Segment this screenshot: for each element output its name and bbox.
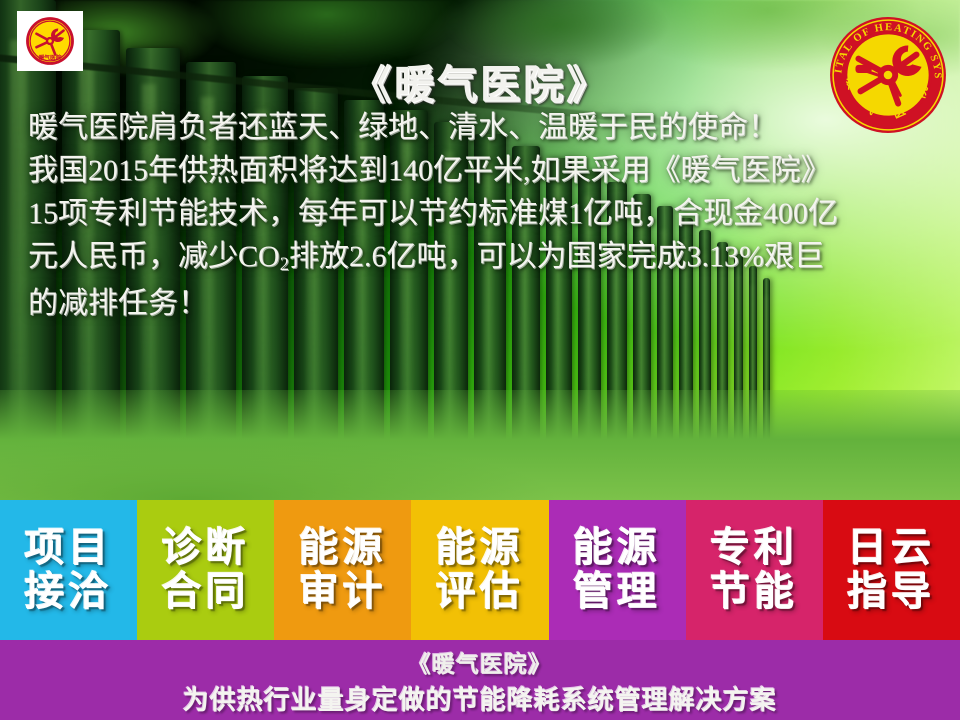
service-box-diagnosis-contract[interactable]: 诊断 合同: [137, 500, 274, 640]
service-label-line1: 诊断: [162, 527, 250, 569]
service-box-strip: 项目 接洽 诊断 合同 能源 审计 能源 评估 能源 管理 专利 节能 日云 指…: [0, 500, 960, 640]
service-label-line1: 能源: [573, 527, 661, 569]
footer-line-1: 《暖气医院》: [408, 645, 552, 679]
body-line-2: 我国2015年供热面积将达到140亿平米,如果采用《暖气医院》: [28, 149, 942, 192]
body-line-3: 15项专利节能技术，每年可以节约标准煤1亿吨，合现金400亿: [28, 192, 942, 235]
service-label-line2: 审计: [299, 571, 387, 613]
service-box-project-contact[interactable]: 项目 接洽: [0, 500, 137, 640]
service-label-line2: 指导: [847, 571, 935, 613]
service-box-patent-saving[interactable]: 专利 节能: [686, 500, 823, 640]
service-box-energy-management[interactable]: 能源 管理: [549, 500, 686, 640]
co2-subscript: 2: [280, 254, 289, 275]
service-label-line1: 项目: [25, 527, 113, 569]
footer-line-2: 为供热行业量身定做的节能降耗系统管理解决方案: [183, 680, 777, 717]
service-label-line1: 能源: [436, 527, 524, 569]
service-label-line2: 节能: [710, 571, 798, 613]
service-label-line2: 接洽: [25, 571, 113, 613]
service-box-energy-assessment[interactable]: 能源 评估: [411, 500, 548, 640]
body-line-1: 暖气医院肩负者还蓝天、绿地、清水、温暖于民的使命！: [28, 106, 942, 149]
service-box-energy-audit[interactable]: 能源 审计: [274, 500, 411, 640]
slide-title: 《暖气医院》: [0, 52, 960, 110]
body-line-4-suffix: 排放2.6亿吨，可以为国家完成3.13%艰巨: [289, 240, 824, 273]
body-line-4-prefix: 元人民币，减少CO: [28, 240, 280, 273]
body-paragraph: 暖气医院肩负者还蓝天、绿地、清水、温暖于民的使命！ 我国2015年供热面积将达到…: [28, 106, 942, 325]
body-line-5: 的减排任务！: [28, 282, 942, 325]
presentation-slide: 暖气医院 HOSPITAL OF HEATING SYSTEM 暖 气 医 院: [0, 0, 960, 720]
service-label-line1: 日云: [847, 527, 935, 569]
service-label-line2: 评估: [436, 571, 524, 613]
service-label-line1: 专利: [710, 527, 798, 569]
service-label-line2: 管理: [573, 571, 661, 613]
grass-meadow: [0, 390, 960, 500]
service-label-line1: 能源: [299, 527, 387, 569]
body-line-4: 元人民币，减少CO2排放2.6亿吨，可以为国家完成3.13%艰巨: [28, 235, 942, 282]
service-label-line2: 合同: [162, 571, 250, 613]
footer-banner: 《暖气医院》 为供热行业量身定做的节能降耗系统管理解决方案: [0, 640, 960, 720]
service-box-daily-cloud-guidance[interactable]: 日云 指导: [823, 500, 960, 640]
